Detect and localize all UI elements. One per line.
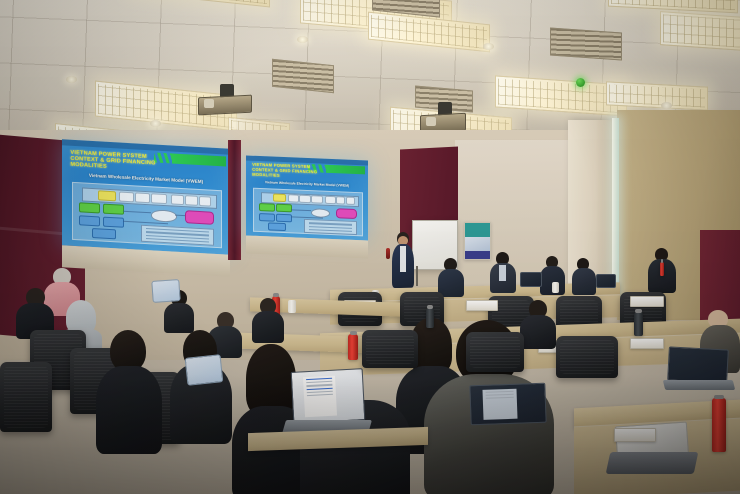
handheld-microphone	[386, 248, 390, 259]
audience-member-foreground	[96, 330, 162, 450]
smoke-detector-icon	[576, 78, 585, 87]
presenter-shirt	[400, 246, 406, 272]
ceiling-projector	[420, 102, 464, 128]
diagram-node-spot	[98, 190, 116, 201]
office-chair	[466, 332, 524, 372]
screen-divider-wall	[228, 140, 241, 260]
diagram-node	[299, 195, 311, 204]
diagram-legend-note	[141, 225, 214, 247]
diagram-node	[346, 197, 356, 206]
diagram-node	[288, 194, 300, 203]
office-chair	[556, 336, 618, 378]
paper-cup	[288, 300, 296, 313]
laptop-keyboard-base	[606, 452, 699, 474]
diagram-node	[151, 193, 166, 204]
diagram-node	[325, 196, 336, 205]
diagram-connector	[123, 211, 151, 214]
diagram-node	[171, 194, 185, 205]
diagram-node-evn	[268, 223, 286, 231]
screen-surface: VIETNAM POWER SYSTEM CONTEXT & GRID FINA…	[246, 155, 368, 240]
paper-cup	[552, 282, 559, 293]
projector-lens-icon	[204, 99, 214, 108]
doc-line	[307, 384, 333, 387]
diagram-node-evn	[92, 228, 116, 239]
slide-diagram	[253, 188, 362, 236]
ceiling-air-vent	[550, 27, 622, 60]
name-placard	[466, 300, 498, 311]
slide-accent-bar	[326, 165, 365, 174]
laptop-screen	[291, 368, 366, 424]
name-placard	[614, 428, 656, 442]
diagram-node-bot	[259, 213, 275, 221]
laptop-keyboard-base	[663, 380, 735, 390]
poster-header-band	[465, 223, 490, 237]
panelist	[438, 258, 464, 294]
panelist-shirt	[499, 265, 506, 281]
torso	[252, 311, 284, 343]
poster-image	[465, 237, 490, 251]
slide-accent-bar	[172, 154, 226, 167]
presenter	[390, 232, 416, 288]
audience-member	[252, 298, 284, 340]
screen-surface: VIETNAM POWER SYSTEM CONTEXT & GRID FINA…	[62, 139, 230, 254]
torso	[96, 366, 162, 454]
poster-footer-band	[465, 251, 490, 259]
laptop-open	[291, 368, 366, 424]
ceiling-downlight	[483, 43, 494, 50]
ceiling-downlight	[66, 76, 77, 83]
diagram-node	[336, 196, 346, 205]
laptop-screen	[596, 274, 616, 288]
diagram-node-smhp	[103, 216, 124, 227]
slide-subtitle: Vietnam Wholesale Electricity Market Mod…	[246, 179, 368, 188]
laptop	[520, 272, 542, 287]
document-preview	[482, 388, 517, 420]
document-preview	[303, 376, 337, 418]
doc-line	[486, 397, 514, 399]
torso	[164, 303, 194, 333]
projector-lens-icon	[426, 117, 436, 126]
laptop-screen	[667, 346, 729, 383]
ceiling-downlight	[150, 120, 161, 127]
projection-screen-right: VIETNAM POWER SYSTEM CONTEXT & GRID FINA…	[246, 155, 368, 240]
doc-line	[307, 390, 333, 393]
name-placard	[630, 338, 664, 349]
slide-diagram	[72, 182, 222, 247]
audience-member	[16, 288, 54, 336]
diagram-node	[135, 192, 150, 203]
diagram-node-ipps	[103, 203, 124, 215]
laptop-open	[469, 383, 546, 426]
diagram-node-bot	[79, 215, 100, 226]
diagram-node-vwem	[151, 210, 177, 223]
conference-room-scene: VIETNAM POWER SYSTEM CONTEXT & GRID FINA…	[0, 0, 740, 494]
ceiling-downlight	[661, 102, 672, 109]
diagram-node	[119, 191, 134, 202]
diagram-node-gencos	[259, 203, 275, 212]
panelist	[490, 252, 516, 292]
doc-line	[306, 381, 332, 384]
diagram-node-market-operator	[185, 211, 214, 225]
slide-title: VIETNAM POWER SYSTEM CONTEXT & GRID FINA…	[70, 149, 164, 173]
ceiling-projector	[198, 84, 250, 114]
diagram-node-ipps	[276, 203, 292, 212]
diagram-node-smhp	[276, 213, 292, 221]
red-tie	[660, 262, 664, 276]
laptop-screen	[469, 383, 546, 426]
diagram-node-gencos	[79, 202, 100, 214]
diagram-node-spot	[273, 194, 287, 203]
doc-line	[307, 387, 333, 390]
office-chair	[362, 330, 418, 368]
tablet-device	[185, 354, 224, 386]
laptop-screen	[520, 272, 542, 287]
doc-line	[485, 391, 513, 393]
office-chair	[0, 362, 52, 432]
whiteboard-leg	[416, 266, 418, 286]
audience-member-foreground	[170, 330, 232, 440]
water-bottle	[426, 308, 434, 328]
doc-line	[306, 378, 332, 381]
projection-screen-left: VIETNAM POWER SYSTEM CONTEXT & GRID FINA…	[62, 139, 230, 254]
audience-member-right	[520, 300, 556, 346]
torso	[520, 315, 556, 349]
diagram-legend-note	[304, 219, 358, 235]
panelist	[648, 248, 676, 292]
note-line	[309, 229, 353, 232]
red-thermos	[712, 398, 726, 452]
red-thermos	[348, 334, 358, 360]
diagram-connector	[291, 209, 311, 211]
laptop	[596, 274, 616, 288]
laptop-open	[667, 346, 729, 383]
tablet-device	[151, 279, 180, 303]
slide-title: VIETNAM POWER SYSTEM CONTEXT & GRID FINA…	[252, 163, 320, 180]
doc-line	[485, 394, 513, 396]
diagram-node	[311, 195, 323, 204]
ceiling-downlight	[297, 36, 308, 43]
diagram-node	[185, 195, 197, 206]
panelist-torso	[438, 269, 464, 297]
water-bottle	[634, 312, 643, 336]
doc-line	[307, 394, 333, 397]
name-placard	[630, 296, 664, 307]
diagram-node-market-operator	[336, 208, 357, 219]
diagram-node	[199, 196, 211, 207]
wall-poster	[464, 222, 491, 260]
diagram-connector	[291, 216, 323, 218]
panelist-torso	[572, 268, 596, 295]
panelist	[572, 258, 596, 294]
